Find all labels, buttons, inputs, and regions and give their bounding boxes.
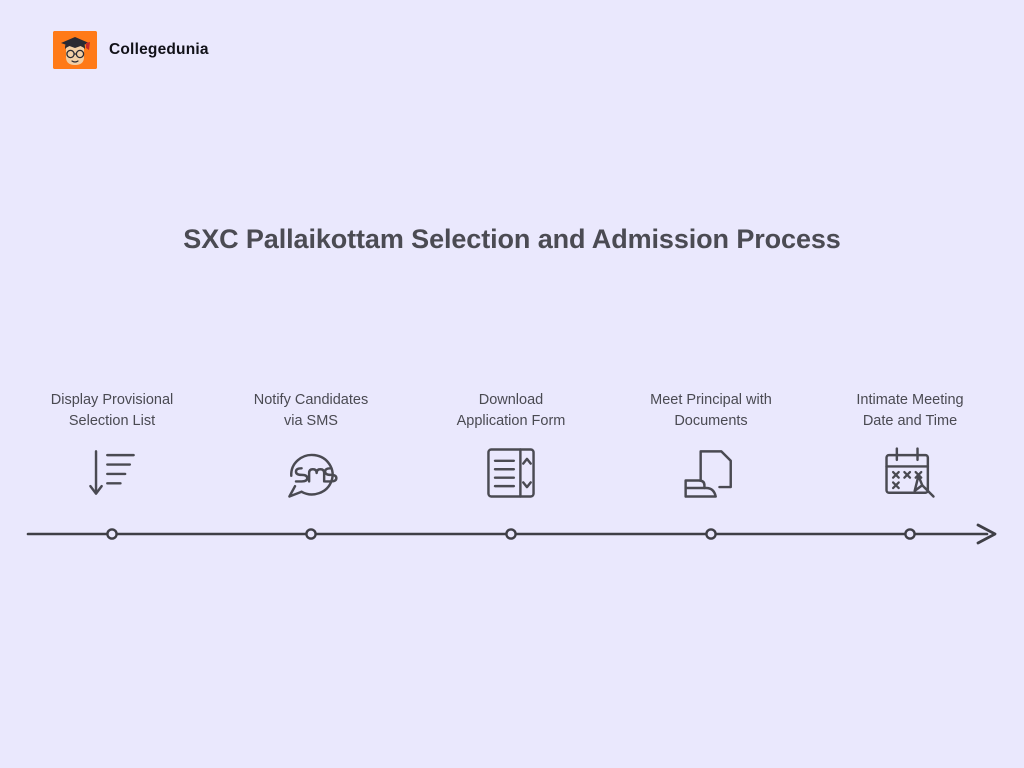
step-label: Notify Candidates via SMS <box>254 390 368 432</box>
sort-descending-icon <box>79 440 145 506</box>
step-label: Intimate Meeting Date and Time <box>856 390 963 432</box>
graduate-avatar-icon <box>53 31 97 69</box>
hand-holding-document-icon <box>678 440 744 506</box>
timeline-steps: Display Provisional Selection ListNotify… <box>0 390 1024 550</box>
sms-chat-bubble-icon <box>278 440 344 506</box>
timeline-step-4: Meet Principal with Documents <box>611 390 811 506</box>
timeline-step-2: Notify Candidates via SMS <box>211 390 411 506</box>
calendar-with-pen-icon <box>877 440 943 506</box>
timeline-step-1: Display Provisional Selection List <box>12 390 212 506</box>
brand-name: Collegedunia <box>109 41 209 59</box>
timeline-step-5: Intimate Meeting Date and Time <box>810 390 1010 506</box>
page-title: SXC Pallaikottam Selection and Admission… <box>0 224 1024 255</box>
step-label: Display Provisional Selection List <box>51 390 174 432</box>
step-label: Download Application Form <box>457 390 566 432</box>
timeline-step-3: Download Application Form <box>411 390 611 506</box>
scrollable-form-icon <box>478 440 544 506</box>
diagram-canvas: Collegedunia SXC Pallaikottam Selection … <box>0 0 1024 768</box>
brand-logo: Collegedunia <box>53 31 209 69</box>
step-label: Meet Principal with Documents <box>650 390 772 432</box>
timeline: Display Provisional Selection ListNotify… <box>0 390 1024 550</box>
